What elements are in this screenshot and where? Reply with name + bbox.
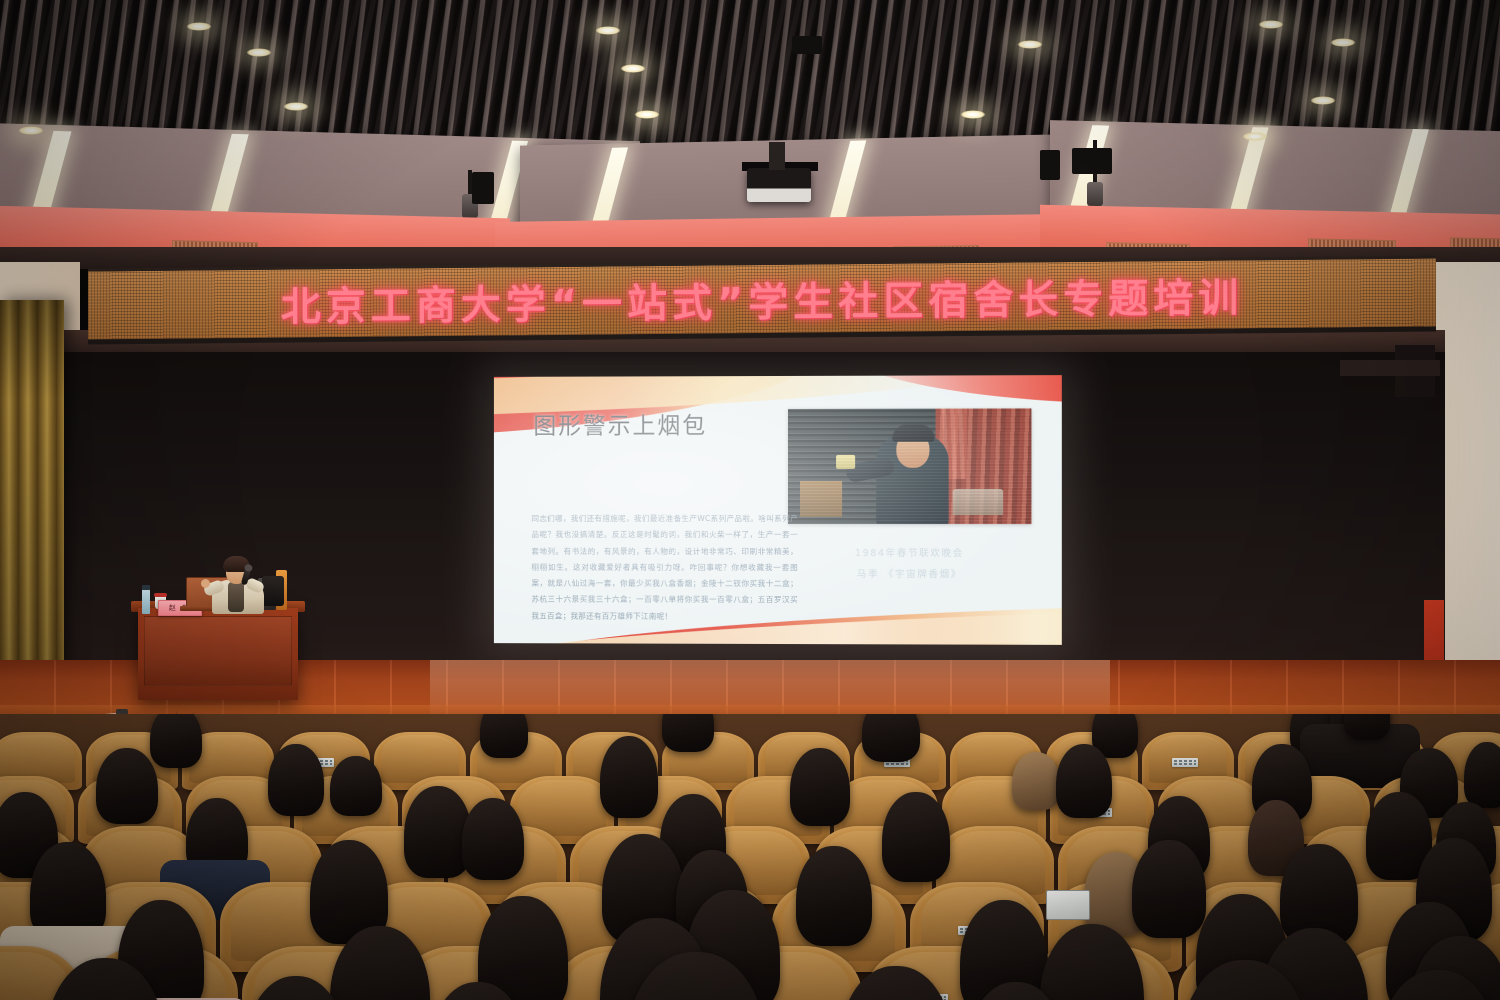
audience-head [1012, 752, 1060, 810]
ceiling [0, 0, 1500, 268]
audience-head [268, 744, 324, 816]
presenter-inner-top [228, 582, 244, 612]
audience-head [796, 846, 872, 946]
downlight-13 [1242, 132, 1268, 141]
slide-body-text: 同志们哪，我们还有措施呢，我们最近准备生产WC系列产品啦。啥叫系列产品呢？我也没… [531, 511, 798, 625]
audience-head [96, 748, 158, 824]
audience-head [330, 756, 382, 816]
water-bottle [142, 589, 150, 614]
ceiling-speaker-1 [472, 172, 494, 204]
desk-front-panel [144, 616, 292, 686]
audience-laptop[interactable] [1046, 890, 1090, 920]
photo-scanlines [788, 408, 1031, 524]
slide-photo-caption: 1984年春节联欢晚会 马季 《宇宙牌香烟》 [788, 544, 1031, 586]
downlight-3 [595, 26, 621, 35]
audience-head [1344, 714, 1390, 740]
audience-head [882, 792, 950, 882]
downlight-1 [186, 22, 212, 31]
audience-head [480, 714, 528, 758]
downlight-2 [246, 48, 272, 57]
downlight-10 [1330, 38, 1356, 47]
strip-light-8 [1387, 129, 1429, 225]
downlight-9 [960, 110, 986, 119]
backwall-beam-right [1340, 360, 1440, 376]
stage-curtain-left [0, 300, 64, 700]
downlight-12 [18, 126, 44, 135]
strip-light-7 [1227, 127, 1268, 221]
presenter-left-hand [201, 579, 210, 588]
curtain-shading [0, 300, 64, 700]
projector-arm [769, 142, 785, 170]
audience-head [790, 748, 850, 826]
led-banner-text: 北京工商大学“一站式”学生社区宿舍长专题培训 [281, 265, 1244, 332]
strip-light-2 [208, 134, 249, 222]
downlight-8 [1017, 40, 1043, 49]
audience-head [1464, 742, 1500, 808]
projection-slide: 图形警示上烟包 1984年春节联欢晚会 马季 《宇宙牌香烟》 同志们哪，我们还有… [494, 375, 1062, 645]
slide-photo [788, 408, 1031, 524]
audience-head [862, 714, 920, 762]
audience-head [662, 714, 714, 752]
downlight-7 [1310, 96, 1336, 105]
strip-light-1 [30, 131, 71, 217]
seat-number-label [1172, 758, 1198, 767]
auditorium-scene: 北京工商大学“一站式”学生社区宿舍长专题培训 图形警示上烟包 1984年春节联欢… [0, 0, 1500, 1000]
ceiling-projector [747, 168, 811, 202]
slide-title: 图形警示上烟包 [533, 406, 707, 440]
audience-area [0, 714, 1500, 1000]
downlight-11 [1258, 20, 1284, 29]
audience-head [462, 798, 524, 880]
ceiling-speaker-2 [1040, 150, 1060, 180]
audience-head [150, 714, 202, 768]
audience-head [1056, 744, 1112, 818]
downlight-5 [283, 102, 309, 111]
presenter-speaker [206, 556, 268, 612]
presenter-desk [138, 608, 298, 700]
audience-head [600, 736, 658, 818]
audience-head [1132, 840, 1206, 938]
downlight-6 [634, 110, 660, 119]
ceiling-equipment-box [1072, 148, 1112, 174]
slide-caption-line-2: 马季 《宇宙牌香烟》 [788, 565, 1031, 586]
led-banner: 北京工商大学“一站式”学生社区宿舍长专题培训 [88, 256, 1436, 345]
slide-caption-line-1: 1984年春节联欢晚会 [788, 544, 1031, 565]
ceiling-speaker-3 [792, 36, 822, 54]
downlight-4 [620, 64, 646, 73]
